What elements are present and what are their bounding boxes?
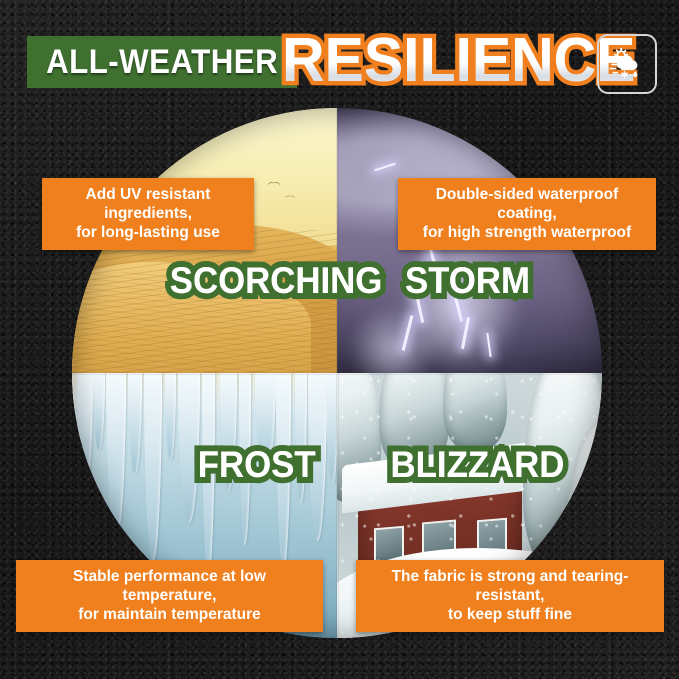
weather-sun-cloud-rain-snow-icon [607,44,647,84]
label-blizzard: BLIZZARD [391,445,565,485]
icicle [128,373,142,475]
caption-frost: Stable performance at low temperature, f… [16,560,323,632]
icicle [165,373,176,461]
label-scorching: SCORCHING [170,261,383,301]
caption-line: Stable performance at low temperature, [26,567,313,605]
icicle [106,373,126,538]
label-storm: STORM [405,261,530,301]
page-title: RESILIENCE [282,26,635,96]
header-badge-label: ALL-WEATHER [46,43,278,82]
caption-line: Add UV resistant ingredients, [52,185,244,223]
caption-storm: Double-sided waterproof coating, for hig… [398,178,656,250]
caption-line: to keep stuff fine [366,605,654,624]
caption-line: Double-sided waterproof coating, [408,185,646,223]
bird-icon [285,196,295,200]
bird-icon [268,182,280,187]
icicle [77,373,93,493]
quadrant-seam-horizontal [72,372,602,375]
caption-line: for high strength waterproof [408,223,646,242]
caption-blizzard: The fabric is strong and tearing-resista… [356,560,664,632]
caption-line: The fabric is strong and tearing-resista… [366,567,654,605]
label-frost: FROST [198,445,316,485]
caption-line: for maintain temperature [26,605,313,624]
header: ALL-WEATHER RESILIENCE RESILIENCE [0,30,679,92]
caption-line: for long-lasting use [52,223,244,242]
icicle [178,373,200,523]
icicle [144,373,162,561]
infographic-poster: ALL-WEATHER RESILIENCE RESILIENCE [0,0,679,679]
weather-icon-badge [597,34,657,94]
snowflake-icon [622,72,627,78]
icicle [93,373,105,451]
caption-scorching: Add UV resistant ingredients, for long-l… [42,178,254,250]
header-badge: ALL-WEATHER [27,36,297,88]
